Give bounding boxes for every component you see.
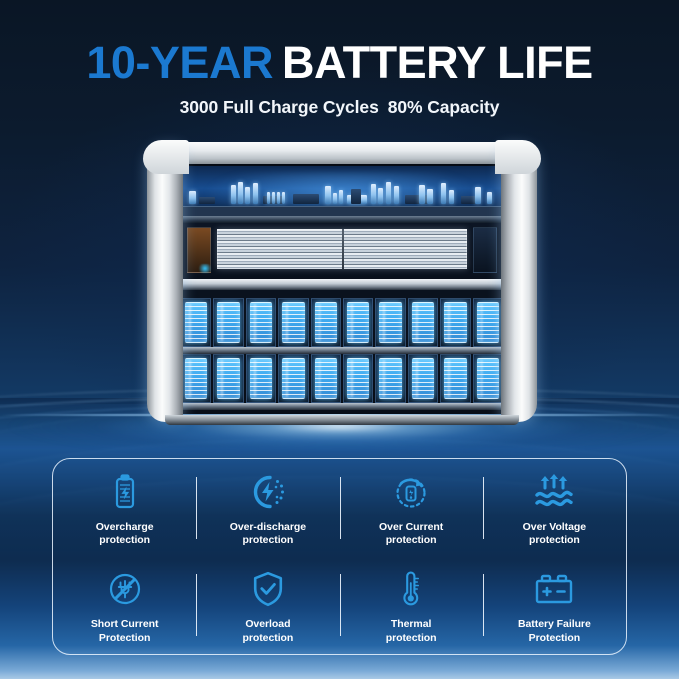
feature-label: Overcharge protection [96,521,154,548]
feature-label: Over-discharge protection [230,521,306,548]
battery-cell [473,354,503,403]
current-loop-device-icon [391,472,431,512]
feature-label: Short Current Protection [91,618,159,645]
battery-cell-row [181,354,503,403]
feature-divider [340,477,341,539]
circuit-board [175,166,509,216]
discharge-arc-bolt-icon [248,472,288,512]
headline-accent: 10-YEAR [86,37,273,88]
feature-label: Thermal protection [386,618,437,645]
subtitle-cycles: 3000 Full Charge Cycles [180,97,379,117]
car-battery-icon [534,569,574,609]
middle-shelf [169,279,515,290]
battery-cell [408,298,438,347]
battery-cell [181,298,211,347]
feature-divider [196,477,197,539]
feature-overcharge-protection: Overcharge protection [53,459,196,557]
feature-label: Overload protection [242,618,293,645]
battery-cell [246,298,276,347]
battery-charge-icon [105,472,145,512]
feature-over-current-protection: Over Current protection [340,459,483,557]
battery-cell-row [181,298,503,347]
features-grid: Overcharge protection [53,459,626,654]
battery-cell [181,354,211,403]
battery-cell [213,354,243,403]
feature-divider [196,574,197,636]
feature-over-voltage-protection: Over Voltage protection [483,459,626,557]
shell-corner-right [495,140,541,174]
thermometer-icon [391,569,431,609]
headline-rest: BATTERY LIFE [282,37,593,88]
connector-glow [197,264,213,273]
heatsink-bay [175,223,509,281]
no-short-circuit-icon [105,569,145,609]
battery-cell [278,298,308,347]
feature-overload-protection: Overload protection [196,557,339,655]
feature-label: Battery Failure Protection [518,618,591,645]
battery-cell [375,354,405,403]
battery-cell-array [175,290,509,414]
battery-cell [408,354,438,403]
side-module [473,227,497,273]
product-infographic-poster: 10-YEARBATTERY LIFE 3000 Full Charge Cyc… [0,0,679,679]
voltage-arrows-waves-icon [534,472,574,512]
product-cutaway-image [147,146,537,422]
battery-cell [440,298,470,347]
shell-left-pillar [147,146,183,422]
feature-short-current-protection: Short Current Protection [53,557,196,655]
subtitle-capacity: 80% Capacity [388,97,500,117]
upper-shelf [175,216,509,223]
battery-cell [343,354,373,403]
battery-cell [440,354,470,403]
shell-top-panel [155,142,529,164]
shield-check-icon [248,569,288,609]
feature-divider [483,477,484,539]
battery-cell [473,298,503,347]
battery-cell [343,298,373,347]
battery-cell [213,298,243,347]
battery-cell [311,298,341,347]
page-title: 10-YEARBATTERY LIFE [0,40,679,85]
feature-divider [483,574,484,636]
battery-cell [278,354,308,403]
shell-right-pillar [501,146,537,422]
feature-divider [340,574,341,636]
battery-cell [311,354,341,403]
battery-cell [375,298,405,347]
feature-thermal-protection: Thermal protection [340,557,483,655]
page-subtitle: 3000 Full Charge Cycles80% Capacity [0,97,679,118]
feature-label: Over Current protection [379,521,443,548]
protection-features-panel: Overcharge protection [52,458,627,655]
feature-label: Over Voltage protection [523,521,586,548]
feature-over-discharge-protection: Over-discharge protection [196,459,339,557]
shell-base [165,415,519,425]
feature-battery-failure-protection: Battery Failure Protection [483,557,626,655]
battery-cell [246,354,276,403]
shell-corner-left [143,140,189,174]
